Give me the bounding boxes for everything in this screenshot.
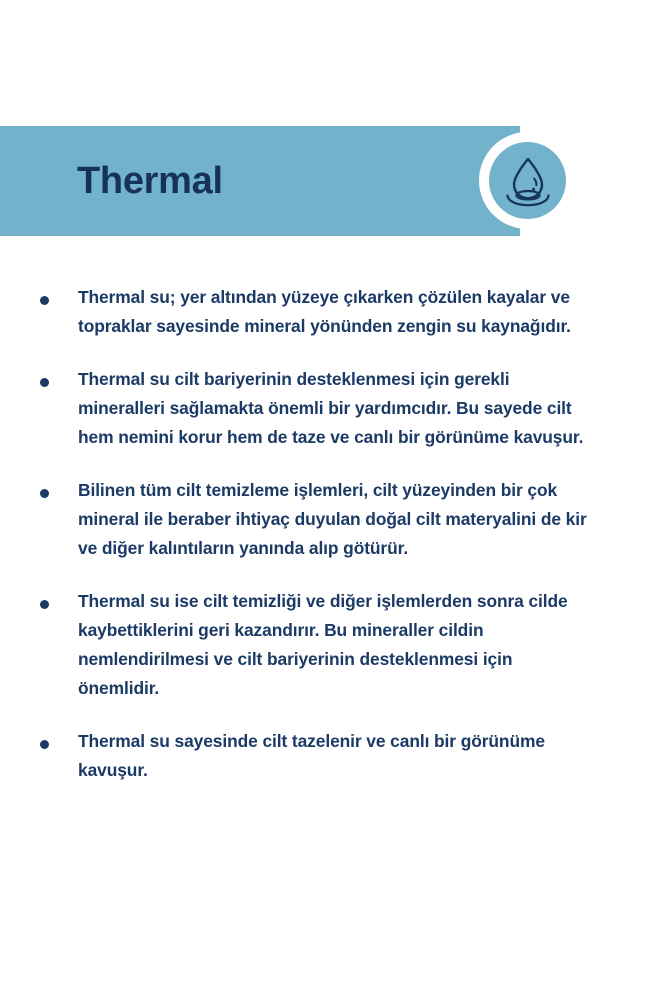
list-item-text: Thermal su sayesinde cilt tazelenir ve c… (78, 727, 587, 785)
water-drop-badge (489, 142, 566, 219)
page-title: Thermal (77, 162, 223, 200)
header-banner: Thermal (0, 126, 520, 236)
list-item: Thermal su cilt bariyerinin desteklenmes… (0, 365, 667, 452)
list-item-text: Bilinen tüm cilt temizleme işlemleri, ci… (78, 476, 587, 563)
bullet-dot-icon (40, 296, 49, 305)
list-item: Thermal su sayesinde cilt tazelenir ve c… (0, 727, 667, 785)
bullet-list: Thermal su; yer altından yüzeye çıkarken… (0, 283, 667, 809)
bullet-dot-icon (40, 378, 49, 387)
list-item-text: Thermal su ise cilt temizliği ve diğer i… (78, 587, 587, 703)
page-root: Thermal Thermal su; yer altından yüzeye … (0, 0, 667, 1000)
bullet-dot-icon (40, 600, 49, 609)
list-item: Bilinen tüm cilt temizleme işlemleri, ci… (0, 476, 667, 563)
list-item: Thermal su; yer altından yüzeye çıkarken… (0, 283, 667, 341)
list-item-text: Thermal su cilt bariyerinin desteklenmes… (78, 365, 587, 452)
bullet-dot-icon (40, 740, 49, 749)
list-item: Thermal su ise cilt temizliği ve diğer i… (0, 587, 667, 703)
list-item-text: Thermal su; yer altından yüzeye çıkarken… (78, 283, 587, 341)
bullet-dot-icon (40, 489, 49, 498)
